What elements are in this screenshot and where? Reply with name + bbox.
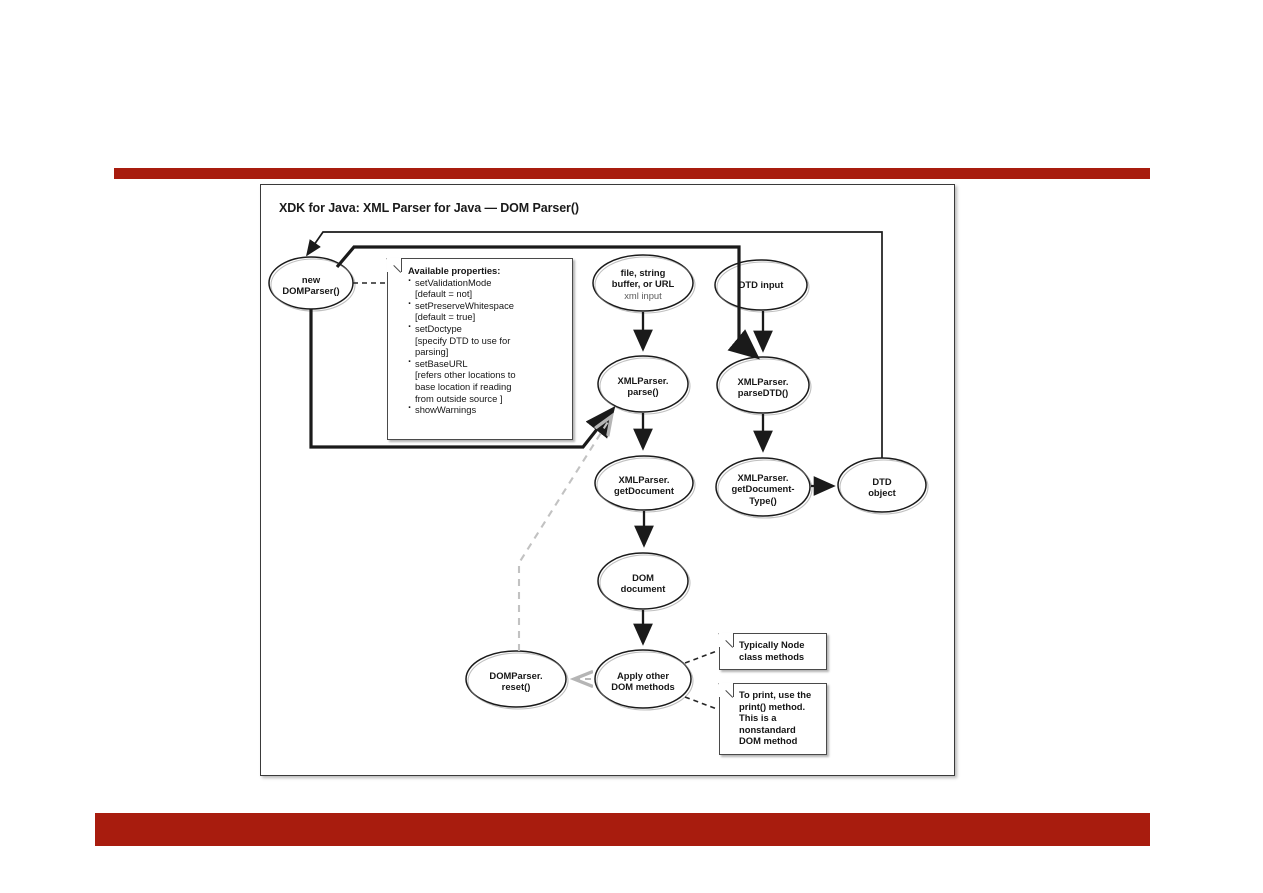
property-item: setValidationMode [default = not]: [408, 277, 570, 300]
top-accent-rule: [114, 168, 1150, 179]
edge-reset-parse: [519, 417, 611, 651]
note-typically-node: Typically Node class methods: [719, 633, 827, 670]
note-typically-node-content: Typically Node class methods: [739, 639, 825, 662]
connector-apply-print: [685, 697, 717, 709]
property-item: setPreserveWhitespace [default = true]: [408, 300, 570, 323]
note-print-method: To print, use the print() method. This i…: [719, 683, 827, 755]
diagram-vector-layer: [261, 185, 956, 777]
note-fold-corner-icon: [387, 258, 402, 272]
note-properties-heading: Available properties:: [408, 265, 570, 277]
note-fold-corner-icon: [719, 633, 734, 647]
note-available-properties: Available properties: setValidationMode …: [387, 258, 573, 440]
connector-apply-typically: [685, 651, 717, 663]
note-fold-corner-icon: [719, 683, 734, 697]
property-item: showWarnings: [408, 404, 570, 416]
node-dtd-input: [715, 260, 807, 310]
property-item: setDoctype [specify DTD to use for parsi…: [408, 323, 570, 358]
property-item: setBaseURL [refers other locations to ba…: [408, 358, 570, 404]
note-properties-list: setValidationMode [default = not] setPre…: [408, 277, 570, 416]
slide-canvas: XDK for Java: XML Parser for Java — DOM …: [0, 0, 1263, 893]
note-properties-content: Available properties: setValidationMode …: [408, 265, 570, 416]
bottom-accent-bar: [95, 813, 1150, 846]
diagram-frame: XDK for Java: XML Parser for Java — DOM …: [260, 184, 955, 776]
note-print-method-content: To print, use the print() method. This i…: [739, 689, 827, 747]
